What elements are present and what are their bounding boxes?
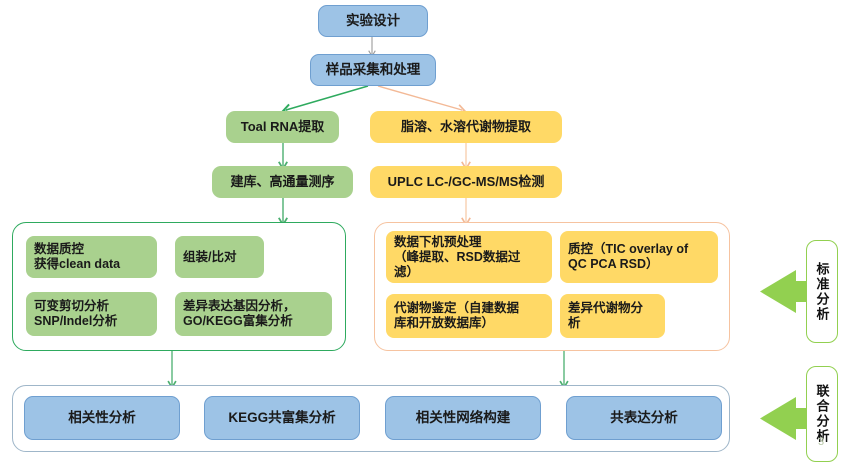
- node-experiment-design[interactable]: 实验设计: [318, 5, 428, 37]
- analysis-box-splicing-snp[interactable]: 可变剪切分析 SNP/Indel分析: [26, 292, 157, 336]
- node-label: Toal RNA提取: [241, 119, 325, 135]
- stage-label-standard-analysis: 标准分析: [806, 240, 838, 343]
- analysis-box-label: 组装/比对: [183, 250, 236, 265]
- analysis-box-label: 差异表达基因分析， GO/KEGG富集分析: [183, 299, 296, 329]
- joint-box-label: 相关性网络构建: [416, 410, 511, 426]
- analysis-box-label: 差异代谢物分 析: [568, 301, 643, 331]
- analysis-box-metabolite-identification[interactable]: 代谢物鉴定（自建数据 库和开放数据库）: [386, 294, 552, 338]
- analysis-box-label: 代谢物鉴定（自建数据 库和开放数据库）: [394, 301, 519, 331]
- node-label: 建库、高通量测序: [230, 174, 334, 190]
- node-label: 实验设计: [346, 13, 400, 29]
- node-label: UPLC LC-/GC-MS/MS检测: [388, 174, 545, 190]
- analysis-box-data-qc[interactable]: 数据质控 获得clean data: [26, 236, 157, 278]
- analysis-box-quality-control[interactable]: 质控（TIC overlay of QC PCA RSD）: [560, 231, 718, 283]
- workflow-diagram: 实验设计 样品采集和处理 Toal RNA提取 建库、高通量测序 脂溶、水溶代谢…: [0, 0, 856, 462]
- node-label: 脂溶、水溶代谢物提取: [401, 119, 531, 135]
- node-library-sequencing[interactable]: 建库、高通量测序: [212, 166, 353, 198]
- stage-label-text: 标准分析: [813, 262, 832, 322]
- analysis-box-assembly-alignment[interactable]: 组装/比对: [175, 236, 264, 278]
- stage-label-text: 联合分析: [813, 384, 832, 444]
- joint-box-label: 共表达分析: [610, 410, 678, 426]
- joint-box-correlation-network[interactable]: 相关性网络构建: [385, 396, 541, 440]
- joint-box-coexpression-analysis[interactable]: 共表达分析: [566, 396, 722, 440]
- analysis-box-label: 质控（TIC overlay of QC PCA RSD）: [568, 242, 688, 272]
- joint-box-kegg-coenrichment[interactable]: KEGG共富集分析: [204, 396, 360, 440]
- analysis-box-deg-go-kegg[interactable]: 差异表达基因分析， GO/KEGG富集分析: [175, 292, 332, 336]
- analysis-box-label: 数据质控 获得clean data: [34, 242, 120, 272]
- node-uplc-detection[interactable]: UPLC LC-/GC-MS/MS检测: [370, 166, 562, 198]
- node-metabolite-extraction[interactable]: 脂溶、水溶代谢物提取: [370, 111, 562, 143]
- node-sample-collection[interactable]: 样品采集和处理: [310, 54, 436, 86]
- analysis-box-differential-metabolites[interactable]: 差异代谢物分 析: [560, 294, 665, 338]
- analysis-box-data-preprocessing[interactable]: 数据下机预处理 （峰提取、RSD数据过 滤）: [386, 231, 552, 283]
- joint-box-label: 相关性分析: [68, 410, 136, 426]
- node-label: 样品采集和处理: [326, 62, 421, 78]
- joint-box-label: KEGG共富集分析: [228, 410, 335, 426]
- node-total-rna-extraction[interactable]: Toal RNA提取: [226, 111, 339, 143]
- analysis-box-label: 可变剪切分析 SNP/Indel分析: [34, 299, 117, 329]
- analysis-box-label: 数据下机预处理 （峰提取、RSD数据过 滤）: [394, 235, 520, 280]
- joint-box-correlation-analysis[interactable]: 相关性分析: [24, 396, 180, 440]
- page-number-artifact: 3: [818, 436, 824, 448]
